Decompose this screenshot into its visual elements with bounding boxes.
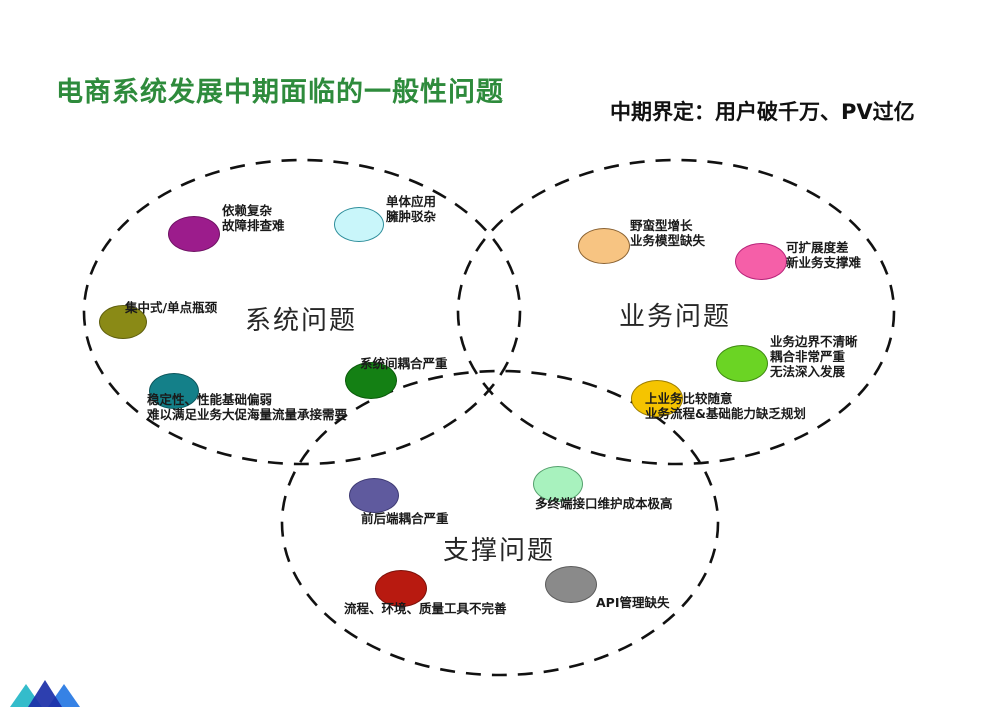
caption-line: 业务流程&基础能力缺乏规划 (645, 406, 806, 421)
caption-line: 故障排查难 (222, 218, 285, 233)
caption-line: 集中式/单点瓶颈 (125, 300, 217, 315)
slide-canvas: 电商系统发展中期面临的一般性问题 中期界定：用户破千万、PV过亿 系统问题业务问… (0, 0, 985, 707)
venn-group-label-support: 支撑问题 (443, 530, 555, 567)
node-caption-unclear-boundary: 业务边界不清晰耦合非常严重无法深入发展 (770, 334, 858, 379)
caption-line: 上业务比较随意 (645, 391, 806, 406)
venn-group-label-business: 业务问题 (619, 296, 731, 333)
page-title: 电商系统发展中期面临的一般性问题 (56, 70, 504, 109)
node-bubble-low-extensibility[interactable] (735, 243, 787, 280)
caption-line: 多终端接口维护成本极高 (535, 496, 673, 511)
subtitle-text: 中期界定：用户破千万、PV过亿 (610, 96, 915, 126)
node-bubble-fe-be-coupling[interactable] (349, 478, 399, 513)
caption-line: 野蛮型增长 (630, 218, 705, 233)
caption-line: 无法深入发展 (770, 364, 858, 379)
node-caption-monolith: 单体应用臃肿驳杂 (386, 194, 436, 224)
venn-group-label-system: 系统问题 (245, 300, 357, 337)
node-caption-barbaric-growth: 野蛮型增长业务模型缺失 (630, 218, 705, 248)
caption-line: 耦合非常严重 (770, 349, 858, 364)
node-bubble-monolith[interactable] (334, 207, 384, 242)
node-caption-central-bottleneck: 集中式/单点瓶颈 (125, 300, 217, 315)
node-caption-multi-terminal-cost: 多终端接口维护成本极高 (535, 496, 673, 511)
caption-line: 稳定性、性能基础偏弱 (147, 392, 347, 407)
node-caption-stability-weak: 稳定性、性能基础偏弱难以满足业务大促海量流量承接需要 (147, 392, 347, 422)
caption-line: 业务模型缺失 (630, 233, 705, 248)
node-bubble-dep-complex[interactable] (168, 216, 220, 252)
node-caption-process-tooling: 流程、环境、质量工具不完善 (344, 601, 507, 616)
caption-line: 难以满足业务大促海量流量承接需要 (147, 407, 347, 422)
mountain-logo (8, 676, 82, 707)
node-bubble-unclear-boundary[interactable] (716, 345, 768, 382)
node-caption-api-management: API管理缺失 (596, 595, 670, 610)
node-caption-inter-system-coupling: 系统间耦合严重 (360, 356, 448, 371)
node-caption-dep-complex: 依赖复杂故障排查难 (222, 203, 285, 233)
node-bubble-api-management[interactable] (545, 566, 597, 603)
node-caption-fe-be-coupling: 前后端耦合严重 (361, 511, 449, 526)
caption-line: 业务边界不清晰 (770, 334, 858, 349)
caption-line: 新业务支撑难 (786, 255, 861, 270)
caption-line: 系统间耦合严重 (360, 356, 448, 371)
caption-line: 臃肿驳杂 (386, 209, 436, 224)
caption-line: API管理缺失 (596, 595, 670, 610)
caption-line: 可扩展度差 (786, 240, 861, 255)
caption-line: 单体应用 (386, 194, 436, 209)
caption-line: 流程、环境、质量工具不完善 (344, 601, 507, 616)
caption-line: 依赖复杂 (222, 203, 285, 218)
logo-triangle-center (28, 680, 62, 707)
node-caption-random-business: 上业务比较随意业务流程&基础能力缺乏规划 (645, 391, 806, 421)
node-caption-low-extensibility: 可扩展度差新业务支撑难 (786, 240, 861, 270)
caption-line: 前后端耦合严重 (361, 511, 449, 526)
node-bubble-barbaric-growth[interactable] (578, 228, 630, 264)
